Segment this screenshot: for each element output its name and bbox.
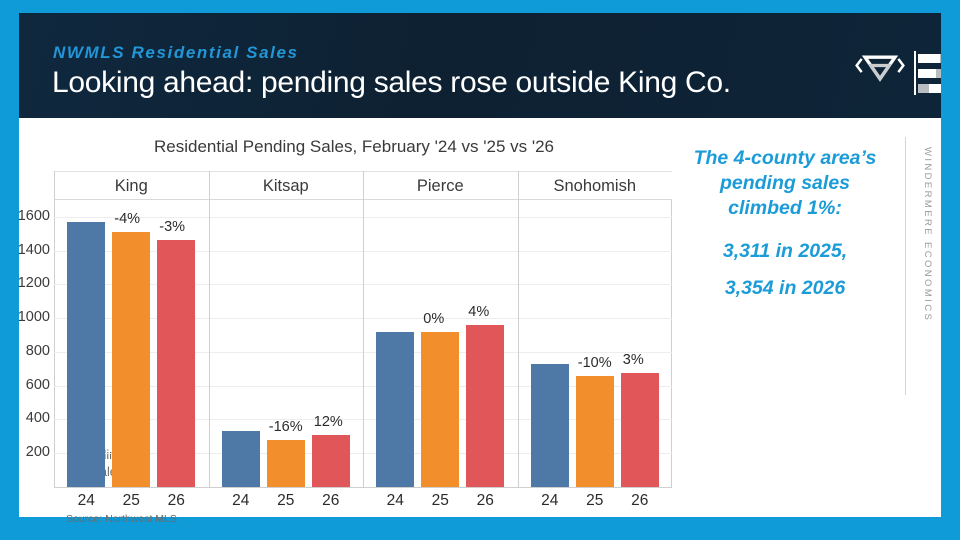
callout-line-3: 3,354 in 2026 <box>685 276 885 301</box>
y-tick-label: 200 <box>0 444 50 460</box>
x-tick-king-25: 25 <box>112 492 150 510</box>
y-tick-label: 800 <box>0 343 50 359</box>
x-tick-kitsap-25: 25 <box>267 492 305 510</box>
y-axis-ticks: 1600140012001000800600400200 <box>0 200 50 487</box>
x-tick-kitsap-26: 26 <box>312 492 350 510</box>
windermere-w-logo <box>855 53 905 93</box>
x-tick-king-26: 26 <box>157 492 195 510</box>
y-tick-label: 1000 <box>0 309 50 325</box>
x-tick-snohomish-26: 26 <box>621 492 659 510</box>
source-note: Source: Northwest MLS <box>66 513 177 525</box>
y-tick-label: 1600 <box>0 208 50 224</box>
panel-header-row: KingKitsapPierceSnohomish <box>54 171 672 199</box>
panel-header-snohomish: Snohomish <box>518 173 673 199</box>
panel-header-pierce: Pierce <box>363 173 518 199</box>
y-tick-label: 1200 <box>0 275 50 291</box>
brand-rail-label: WINDERMERE ECONOMICS <box>899 147 933 322</box>
x-tick-king-24: 24 <box>67 492 105 510</box>
pending-sales-chart: Residential Pending Sales, February '24 … <box>29 137 679 517</box>
x-tick-pierce-26: 26 <box>466 492 504 510</box>
callout-line-1: The 4-county area’s pending sales climbe… <box>685 146 885 221</box>
bar-chart-logo <box>914 51 941 95</box>
panel-header-king: King <box>54 173 209 199</box>
page-title: Looking ahead: pending sales rose outsid… <box>52 66 731 100</box>
x-tick-pierce-25: 25 <box>421 492 459 510</box>
y-tick-label: 400 <box>0 410 50 426</box>
x-tick-snohomish-24: 24 <box>531 492 569 510</box>
callout-panel: The 4-county area’s pending sales climbe… <box>685 146 885 301</box>
slide-canvas: NWMLS Residential Sales Looking ahead: p… <box>0 0 960 540</box>
chart-title: Residential Pending Sales, February '24 … <box>29 137 679 157</box>
y-tick-label: 600 <box>0 377 50 393</box>
callout-line-2: 3,311 in 2025, <box>685 239 885 264</box>
x-tick-kitsap-24: 24 <box>222 492 260 510</box>
y-tick-label: 1400 <box>0 242 50 258</box>
panel-header-kitsap: Kitsap <box>209 173 364 199</box>
slide-card: NWMLS Residential Sales Looking ahead: p… <box>19 13 941 517</box>
header-eyebrow: NWMLS Residential Sales <box>53 43 299 63</box>
slide-header: NWMLS Residential Sales Looking ahead: p… <box>19 13 941 118</box>
x-tick-pierce-24: 24 <box>376 492 414 510</box>
x-tick-snohomish-25: 25 <box>576 492 614 510</box>
x-axis-labels: 242526242526242526242526 <box>54 200 672 520</box>
